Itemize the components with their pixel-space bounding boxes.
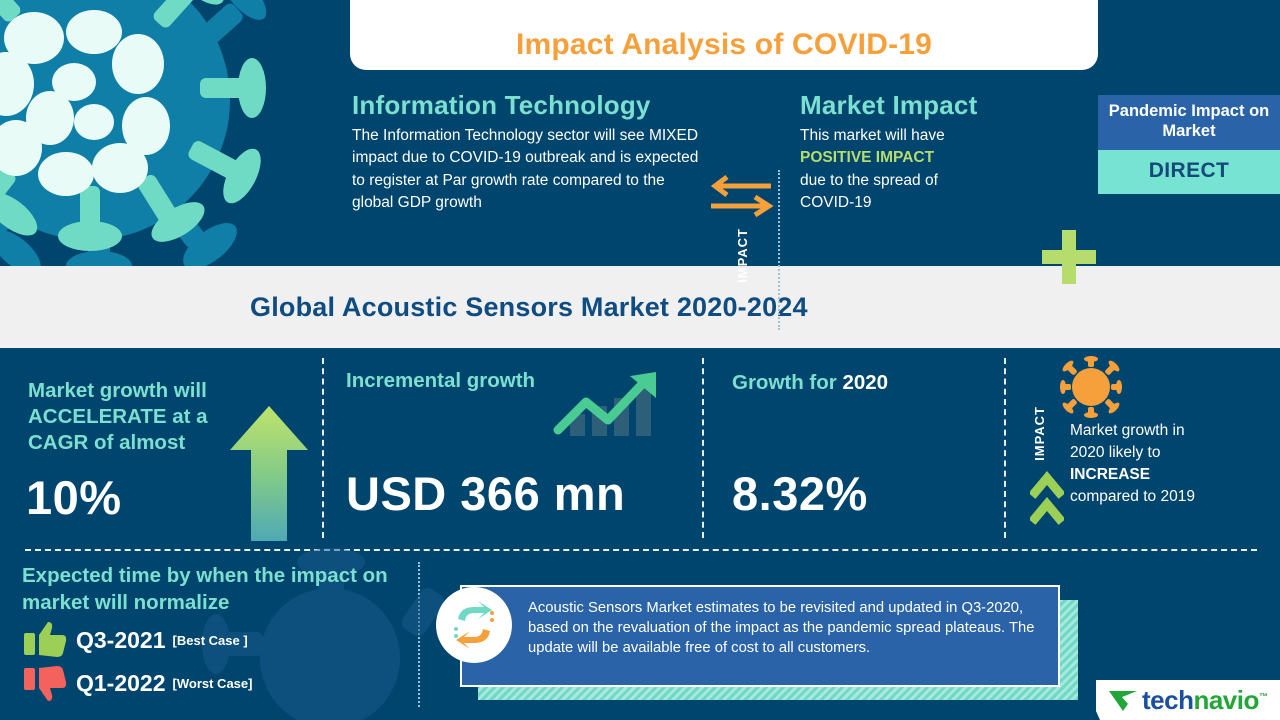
logo-text-navio: navio: [1193, 685, 1258, 715]
header-title-pill: Impact Analysis of COVID-19: [350, 0, 1098, 70]
market-impact-line1: This market will have: [800, 127, 945, 144]
metric-growth-value: 8.32%: [732, 466, 868, 521]
impact-line2: 2020 likely to: [1070, 444, 1160, 461]
metric-cagr-value: 10%: [26, 470, 122, 525]
normalize-heading: Expected time by when the impact on mark…: [22, 563, 422, 616]
normalize-quarter-worst: Q1-2022: [76, 670, 166, 697]
normalize-case-best: [Best Case ]: [173, 633, 248, 648]
market-impact-heading: Market Impact: [800, 90, 1050, 121]
double-chevron-up-icon: [1030, 470, 1064, 530]
growth-chart-icon: [552, 370, 662, 442]
it-heading: Information Technology: [352, 90, 700, 121]
thumbs-down-icon: [22, 664, 68, 702]
technavio-logo: technavio™: [1096, 680, 1280, 720]
technavio-mark-icon: [1108, 687, 1138, 713]
normalize-case-worst: [Worst Case]: [173, 676, 253, 691]
market-impact-block: Market Impact This market will have POSI…: [800, 90, 1050, 215]
metric-cagr-label: Market growth will ACCELERATE at a CAGR …: [28, 378, 238, 457]
normalize-quarter-best: Q3-2021: [76, 627, 166, 654]
normalize-row-worst: Q1-2022 [Worst Case]: [22, 664, 422, 702]
market-impact-highlight: POSITIVE IMPACT: [800, 149, 934, 166]
metric-growth-label-year: 2020: [842, 371, 888, 394]
normalize-row-best: Q3-2021 [Best Case ]: [22, 621, 422, 659]
metric-incremental-value: USD 366 mn: [346, 466, 625, 521]
metric-divider-3: [1004, 358, 1006, 538]
arrow-up-icon: [230, 406, 308, 541]
refresh-icon: [436, 587, 512, 663]
impact-vertical-label-2: IMPACT: [1032, 406, 1047, 461]
metric-incremental-label: Incremental growth: [346, 368, 546, 394]
pandemic-panel-heading: Pandemic Impact on Market: [1098, 95, 1280, 150]
plus-icon: [1040, 228, 1098, 286]
impact-2020-text: Market growth in 2020 likely to INCREASE…: [1070, 420, 1278, 508]
logo-trademark: ™: [1259, 691, 1268, 701]
impact-2020-column: IMPACT Market growth in 2020 likely to I…: [1008, 348, 1280, 549]
callout-box: Acoustic Sensors Market estimates to be …: [460, 585, 1060, 687]
information-technology-block: Information Technology The Information T…: [352, 90, 700, 215]
metric-divider-2: [702, 358, 704, 538]
impact-highlight: INCREASE: [1070, 466, 1150, 483]
pandemic-panel-value: DIRECT: [1098, 150, 1280, 194]
infographic-page: Impact Analysis of COVID-19 Information …: [0, 0, 1280, 720]
metric-growth-label-accent: Growth for: [732, 371, 842, 394]
normalize-block: Expected time by when the impact on mark…: [22, 563, 422, 702]
impact-line3: compared to 2019: [1070, 488, 1195, 505]
impact-vertical-label: IMPACT: [735, 228, 750, 283]
impact-line1: Market growth in: [1070, 422, 1185, 439]
pandemic-impact-panel: Pandemic Impact on Market DIRECT: [1098, 95, 1280, 194]
metrics-row: Market growth will ACCELERATE at a CAGR …: [0, 348, 1280, 549]
metric-cagr: Market growth will ACCELERATE at a CAGR …: [0, 348, 322, 549]
thumbs-up-icon: [22, 621, 68, 659]
page-title: Impact Analysis of COVID-19: [516, 28, 932, 62]
metric-growth-2020: Growth for 2020 8.32%: [706, 348, 1006, 549]
impact-arrows-group: IMPACT: [706, 174, 778, 326]
market-impact-line3: COVID-19: [800, 194, 872, 211]
callout-text: Acoustic Sensors Market estimates to be …: [528, 598, 1044, 658]
vertical-dotted-divider: [778, 170, 780, 330]
metric-incremental-growth: Incremental growth USD 366 mn: [324, 348, 704, 549]
coronavirus-icon: [1060, 356, 1122, 418]
logo-text-tech: tech: [1142, 685, 1193, 715]
market-impact-line2: due to the spread of: [800, 172, 938, 189]
it-body: The Information Technology sector will s…: [352, 125, 700, 215]
top-summary-row: Information Technology The Information T…: [0, 78, 1280, 266]
metric-growth-label: Growth for 2020: [732, 370, 888, 396]
bidirectional-arrows-icon: [707, 174, 777, 220]
